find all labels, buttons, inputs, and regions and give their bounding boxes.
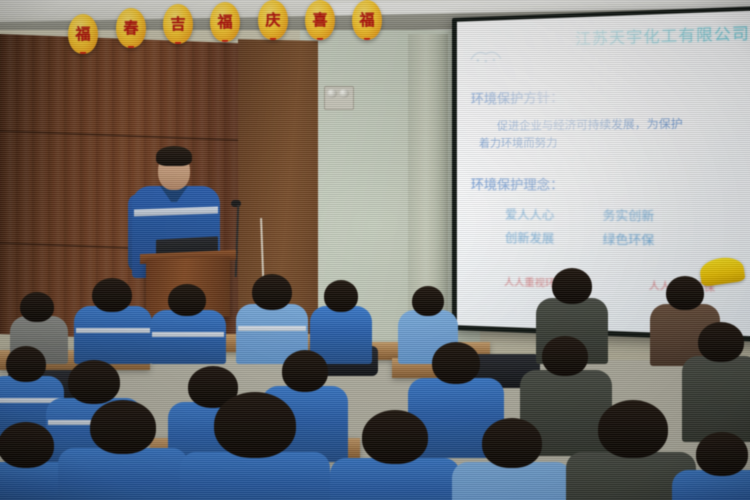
ornament-tassel bbox=[270, 38, 276, 40]
lamp-left bbox=[327, 89, 337, 98]
ornament-tassel bbox=[175, 42, 181, 44]
slide-concept-item-0: 爱人人心 bbox=[505, 206, 579, 224]
audience-uniform bbox=[150, 310, 226, 364]
audience-head bbox=[432, 342, 480, 384]
audience-head bbox=[0, 422, 54, 468]
hanging-ornament-6: 福 bbox=[352, 0, 382, 40]
ornament-tassel bbox=[317, 38, 323, 40]
slide-concept-grid: 爱人人心务实创新创新发展绿色环保 bbox=[471, 205, 750, 250]
audience-head bbox=[666, 276, 704, 310]
ornament-glyph: 福 bbox=[75, 27, 90, 42]
hanging-ornament-3: 福 bbox=[210, 2, 240, 42]
audience-member bbox=[330, 410, 460, 500]
audience-area bbox=[0, 250, 750, 500]
slide-heading-policy: 环境保护方针： bbox=[471, 83, 750, 108]
audience-head bbox=[214, 392, 296, 458]
ornament-tassel bbox=[222, 40, 228, 42]
slide-concept-item-3: 绿色环保 bbox=[603, 230, 681, 249]
company-logo-icon bbox=[469, 46, 503, 63]
ornament-glyph: 福 bbox=[217, 15, 232, 30]
audience-head bbox=[698, 322, 744, 362]
audience-uniform bbox=[180, 452, 330, 500]
audience-member bbox=[452, 418, 572, 500]
ornament-glyph: 喜 bbox=[312, 13, 327, 28]
audience-head bbox=[552, 268, 592, 304]
slide-concept-item-1: 务实创新 bbox=[603, 206, 681, 225]
microphone-icon bbox=[231, 200, 241, 207]
slide-heading-concept: 环境保护理念： bbox=[471, 174, 750, 194]
audience-member bbox=[180, 392, 330, 500]
ornament-glyph: 吉 bbox=[170, 17, 185, 32]
presenter-hair bbox=[156, 146, 192, 166]
audience-head bbox=[696, 432, 748, 476]
slide-body-line-1: 促进企业与经济可持续发展，为保护 bbox=[497, 114, 750, 135]
audience-head bbox=[90, 400, 156, 454]
audience-head bbox=[542, 336, 588, 376]
audience-member bbox=[150, 284, 226, 364]
audience-head bbox=[252, 274, 292, 310]
audience-head bbox=[168, 284, 206, 316]
audience-head bbox=[362, 410, 428, 464]
audience-uniform bbox=[330, 458, 460, 500]
audience-reflective-stripe bbox=[152, 332, 224, 337]
audience-member bbox=[672, 432, 750, 500]
ornament-tassel bbox=[128, 46, 134, 48]
photo-scene: 福春吉福庆喜福 江苏天宇化工有限公司 环境保护方针： 促进企业与经济可持续发展，… bbox=[0, 0, 750, 500]
audience-head bbox=[412, 286, 444, 316]
ornament-glyph: 春 bbox=[123, 21, 138, 36]
audience-head bbox=[20, 292, 54, 322]
emergency-exit-light-icon bbox=[324, 86, 354, 110]
slide-company-title: 江苏天宇化工有限公司 bbox=[471, 21, 750, 52]
lamp-right bbox=[339, 89, 349, 98]
audience-head bbox=[482, 418, 542, 468]
audience-member bbox=[74, 278, 152, 364]
audience-reflective-stripe bbox=[76, 328, 150, 333]
audience-head bbox=[282, 350, 328, 392]
hanging-ornament-4: 庆 bbox=[258, 0, 288, 40]
audience-head bbox=[68, 360, 120, 404]
ornament-tassel bbox=[364, 38, 370, 40]
audience-head bbox=[6, 346, 46, 382]
audience-member bbox=[58, 400, 188, 500]
ornament-glyph: 福 bbox=[359, 13, 374, 28]
audience-uniform bbox=[58, 448, 188, 500]
slide-body-line-2: 着力环境而努力 bbox=[479, 132, 750, 152]
slide-concept-item-2: 创新发展 bbox=[505, 229, 579, 248]
slide-body-text: 促进企业与经济可持续发展，为保护 着力环境而努力 bbox=[471, 114, 750, 152]
hanging-ornament-0: 福 bbox=[68, 14, 98, 54]
audience-reflective-stripe bbox=[238, 326, 306, 331]
audience-head bbox=[92, 278, 132, 312]
hanging-ornament-2: 吉 bbox=[163, 4, 193, 44]
audience-uniform bbox=[74, 306, 152, 364]
hanging-ornament-1: 春 bbox=[116, 8, 146, 48]
ornament-tassel bbox=[80, 52, 86, 54]
hanging-ornament-5: 喜 bbox=[305, 0, 335, 40]
ornament-glyph: 庆 bbox=[265, 13, 280, 28]
audience-head bbox=[598, 400, 668, 458]
audience-head bbox=[324, 280, 358, 312]
